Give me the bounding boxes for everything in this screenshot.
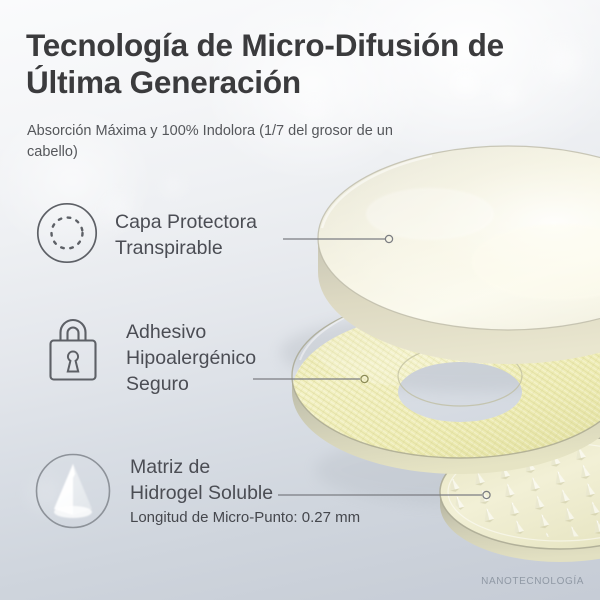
breathable-layer-icon — [36, 202, 98, 264]
infographic-canvas: Capa Protectora Transpirable Adhesivo Hi… — [0, 0, 600, 600]
watermark-label: NANOTECNOLOGÍA — [481, 576, 584, 587]
feature-text-column: Matriz de Hidrogel Soluble Longitud de M… — [130, 455, 360, 527]
feature-label: Capa Protectora Transpirable — [115, 210, 257, 262]
leader-dot-3 — [483, 491, 490, 498]
leader-dot-2 — [361, 375, 368, 382]
capa-protectora-top-disc — [318, 146, 600, 364]
feature-label: Matriz de Hidrogel Soluble — [130, 455, 360, 507]
page-title: Tecnología de Micro-Difusión de Última G… — [26, 27, 546, 101]
bokeh-highlight — [158, 172, 188, 200]
page-subtitle: Absorción Máxima y 100% Indolora (1/7 de… — [27, 121, 447, 163]
lock-icon — [44, 316, 102, 386]
feature-label: Adhesivo Hipoalergénico Seguro — [126, 320, 256, 398]
microneedle-cone-icon — [34, 452, 112, 530]
top-disc-shadow — [280, 312, 600, 392]
matriz-hidrogel-needle-disc — [440, 435, 600, 562]
feature-adhesivo[interactable]: Adhesivo Hipoalergénico Seguro — [44, 316, 256, 398]
feature-capa-protectora[interactable]: Capa Protectora Transpirable — [36, 202, 257, 264]
adhesivo-ring — [292, 294, 600, 474]
bokeh-highlight — [565, 150, 600, 188]
feature-sublabel: Longitud de Micro-Punto: 0.27 mm — [130, 508, 360, 528]
leader-dot-1 — [385, 235, 392, 242]
feature-matriz-hidrogel[interactable]: Matriz de Hidrogel Soluble Longitud de M… — [34, 452, 360, 530]
